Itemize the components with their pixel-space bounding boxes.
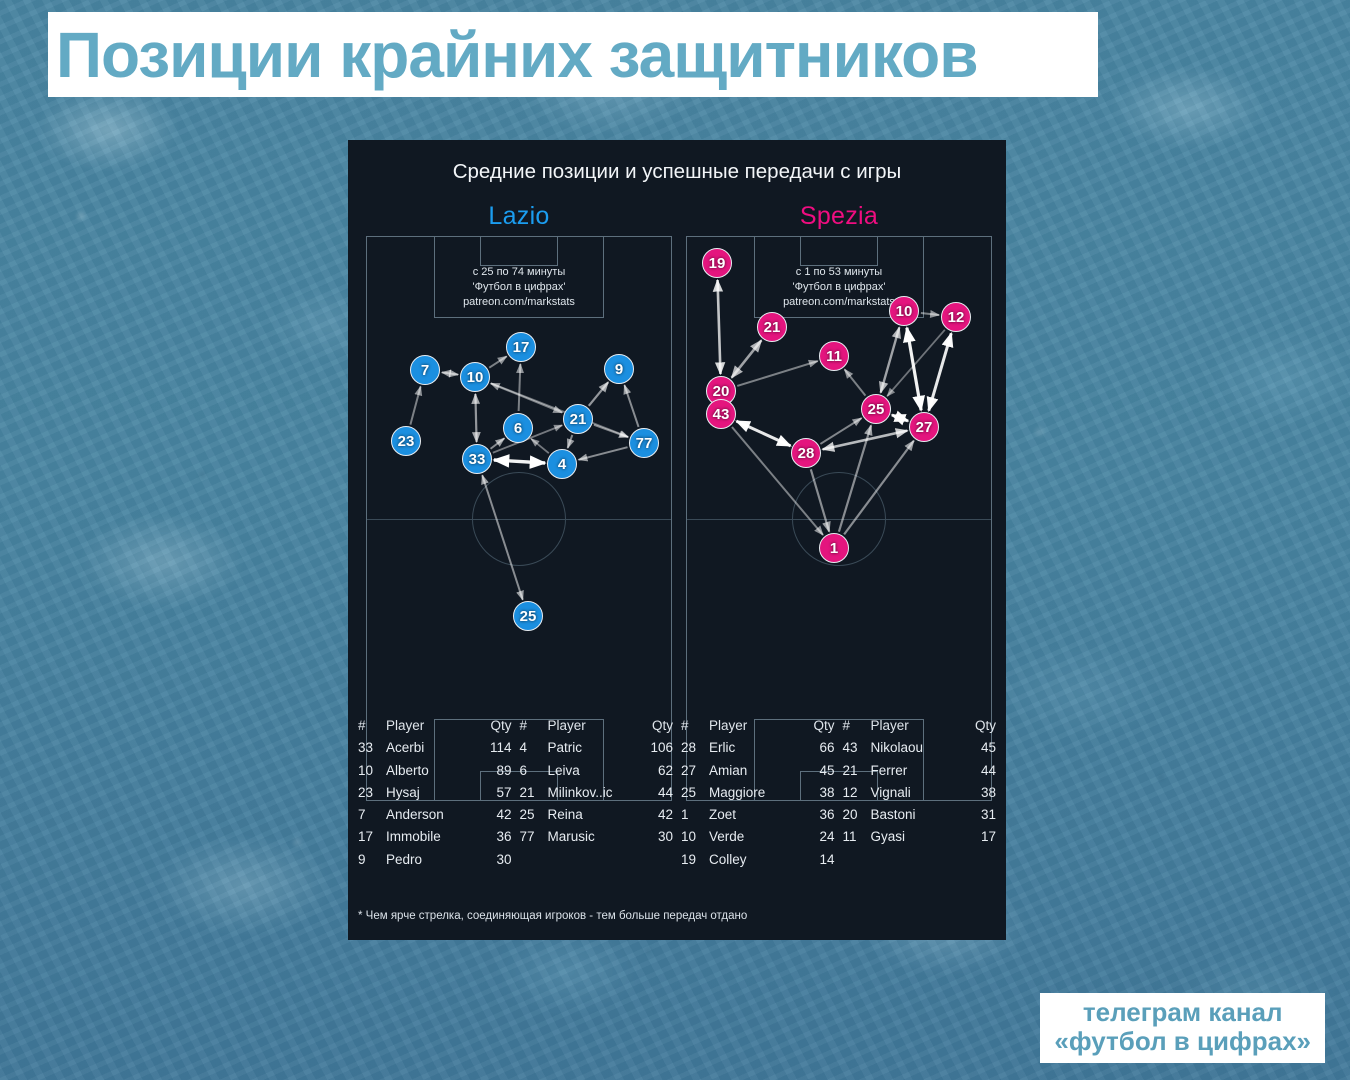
- player-number: 1: [681, 807, 707, 822]
- player-node-19[interactable]: 19: [702, 248, 732, 278]
- pass-qty: 42: [476, 807, 512, 822]
- player-node-33[interactable]: 33: [462, 444, 492, 474]
- panel-heading: Средние позиции и успешные передачи с иг…: [348, 140, 1006, 184]
- player-name: Reina: [546, 807, 638, 822]
- player-name: Zoet: [707, 807, 799, 822]
- player-name: Patric: [546, 740, 638, 755]
- pitch-spezia: Spezia с 1 по 53 минуты 'Футбол в цифрах…: [686, 236, 992, 801]
- table-row: 6Leiva62: [520, 763, 674, 785]
- pass-qty: 30: [476, 852, 512, 867]
- column-header: Qty: [960, 718, 996, 733]
- pass-network-edges-lazio: [366, 236, 672, 801]
- pass-qty: 114: [476, 740, 512, 755]
- table-row: 43Nikolaou45: [843, 740, 997, 762]
- page-title: Позиции крайних защитников: [48, 23, 978, 87]
- pass-edge: [820, 418, 861, 444]
- player-number: 33: [358, 740, 384, 755]
- pass-edge: [491, 438, 505, 448]
- player-name: Acerbi: [384, 740, 476, 755]
- table-row: 23Hysaj57: [358, 785, 512, 807]
- player-number: 6: [520, 763, 546, 778]
- player-node-25[interactable]: 25: [861, 394, 891, 424]
- player-node-17[interactable]: 17: [506, 332, 536, 362]
- column-header: Player: [707, 718, 799, 733]
- player-node-77[interactable]: 77: [629, 428, 659, 458]
- table-row: 27Amian45: [681, 763, 835, 785]
- pass-edge: [624, 385, 638, 427]
- player-name: Gyasi: [869, 829, 961, 844]
- player-name: Erlic: [707, 740, 799, 755]
- table-row: 12Vignali38: [843, 785, 997, 807]
- pass-edge: [921, 313, 939, 315]
- team-name-spezia: Spezia: [686, 202, 992, 231]
- pass-qty: 36: [476, 829, 512, 844]
- player-number: 9: [358, 852, 384, 867]
- pass-qty: 14: [799, 852, 835, 867]
- pass-qty: 38: [960, 785, 996, 800]
- player-number: 23: [358, 785, 384, 800]
- player-node-10[interactable]: 10: [889, 296, 919, 326]
- table-header-row: #PlayerQty: [520, 718, 674, 740]
- player-name: Bastoni: [869, 807, 961, 822]
- player-number: 4: [520, 740, 546, 755]
- pass-qty: 66: [799, 740, 835, 755]
- pass-qty: 36: [799, 807, 835, 822]
- player-number: 21: [843, 763, 869, 778]
- player-name: Immobile: [384, 829, 476, 844]
- player-node-23[interactable]: 23: [391, 426, 421, 456]
- table-row: 20Bastoni31: [843, 807, 997, 829]
- pass-qty: 89: [476, 763, 512, 778]
- stats-table: #PlayerQty33Acerbi11410Alberto8923Hysaj5…: [354, 718, 516, 888]
- player-name: Marusic: [546, 829, 638, 844]
- player-node-10[interactable]: 10: [460, 362, 490, 392]
- player-node-1[interactable]: 1: [819, 533, 849, 563]
- pass-edge: [881, 327, 900, 392]
- player-name: Anderson: [384, 807, 476, 822]
- telegram-badge[interactable]: телеграм канал «футбол в цифрах»: [1040, 993, 1325, 1063]
- player-node-27[interactable]: 27: [909, 412, 939, 442]
- player-name: Hysaj: [384, 785, 476, 800]
- team-name-lazio: Lazio: [366, 202, 672, 231]
- pass-qty: 44: [637, 785, 673, 800]
- table-row: 33Acerbi114: [358, 740, 512, 762]
- player-node-25[interactable]: 25: [513, 601, 543, 631]
- player-number: 19: [681, 852, 707, 867]
- pass-qty: 31: [960, 807, 996, 822]
- pass-edge: [892, 415, 908, 421]
- player-node-12[interactable]: 12: [941, 302, 971, 332]
- table-row: 4Patric106: [520, 740, 674, 762]
- player-number: 77: [520, 829, 546, 844]
- table-row: 77Marusic30: [520, 829, 674, 851]
- player-name: Nikolaou: [869, 740, 961, 755]
- player-node-21[interactable]: 21: [757, 312, 787, 342]
- pass-edge: [482, 475, 522, 600]
- pass-edge: [907, 328, 921, 410]
- player-name: Verde: [707, 829, 799, 844]
- pass-edge: [531, 439, 549, 453]
- table-row: 19Colley14: [681, 852, 835, 874]
- pass-edge: [410, 386, 420, 424]
- pass-qty: 38: [799, 785, 835, 800]
- pass-edge: [578, 447, 627, 460]
- column-header: Player: [384, 718, 476, 733]
- pass-qty: 30: [637, 829, 673, 844]
- pass-edge: [589, 382, 608, 406]
- player-name: Amian: [707, 763, 799, 778]
- player-number: 17: [358, 829, 384, 844]
- table-row: 28Erlic66: [681, 740, 835, 762]
- player-node-7[interactable]: 7: [410, 355, 440, 385]
- player-name: Alberto: [384, 763, 476, 778]
- pass-edge: [442, 372, 458, 374]
- pass-qty: 57: [476, 785, 512, 800]
- column-header: Qty: [476, 718, 512, 733]
- badge-line-2: «футбол в цифрах»: [1054, 1027, 1311, 1056]
- pass-edge: [568, 435, 573, 448]
- table-row: 10Verde24: [681, 829, 835, 851]
- column-header: Player: [546, 718, 638, 733]
- player-name: Maggiore: [707, 785, 799, 800]
- column-header: #: [358, 718, 384, 733]
- player-node-11[interactable]: 11: [819, 341, 849, 371]
- player-name: Milinkov..ic: [546, 785, 638, 800]
- table-row: 7Anderson42: [358, 807, 512, 829]
- column-header: #: [843, 718, 869, 733]
- player-name: Leiva: [546, 763, 638, 778]
- player-node-6[interactable]: 6: [503, 413, 533, 443]
- pass-qty: 17: [960, 829, 996, 844]
- table-row: 10Alberto89: [358, 763, 512, 785]
- pass-edge: [475, 394, 476, 442]
- player-number: 25: [681, 785, 707, 800]
- player-node-28[interactable]: 28: [791, 438, 821, 468]
- table-row: 25Reina42: [520, 807, 674, 829]
- player-node-9[interactable]: 9: [604, 354, 634, 384]
- pass-qty: 106: [637, 740, 673, 755]
- stats-table: #PlayerQty43Nikolaou4521Ferrer4412Vignal…: [839, 718, 1001, 888]
- table-row: 25Maggiore38: [681, 785, 835, 807]
- pitch-lazio: Lazio с 25 по 74 минуты 'Футбол в цифрах…: [366, 236, 672, 801]
- pass-edge: [844, 441, 914, 535]
- player-name: Pedro: [384, 852, 476, 867]
- column-header: #: [681, 718, 707, 733]
- table-row: 21Milinkov..ic44: [520, 785, 674, 807]
- table-row: 11Gyasi17: [843, 829, 997, 851]
- player-number: 20: [843, 807, 869, 822]
- title-banner: Позиции крайних защитников: [48, 12, 1098, 97]
- table-row: 1Zoet36: [681, 807, 835, 829]
- player-number: 10: [358, 763, 384, 778]
- player-node-4[interactable]: 4: [547, 449, 577, 479]
- player-number: 25: [520, 807, 546, 822]
- pass-qty: 42: [637, 807, 673, 822]
- player-number: 12: [843, 785, 869, 800]
- badge-line-1: телеграм канал: [1054, 998, 1311, 1027]
- column-header: #: [520, 718, 546, 733]
- pass-qty: 62: [637, 763, 673, 778]
- player-name: Ferrer: [869, 763, 961, 778]
- pass-edge: [845, 369, 866, 395]
- footnote: * Чем ярче стрелка, соединяющая игроков …: [358, 910, 747, 922]
- pass-edge: [718, 280, 721, 374]
- pass-edge: [489, 356, 507, 367]
- table-row: 9Pedro30: [358, 852, 512, 874]
- player-node-21[interactable]: 21: [563, 404, 593, 434]
- table-header-row: #PlayerQty: [843, 718, 997, 740]
- pass-edge: [519, 364, 521, 411]
- player-node-43[interactable]: 43: [706, 399, 736, 429]
- pass-qty: 44: [960, 763, 996, 778]
- stats-table: #PlayerQty4Patric1066Leiva6221Milinkov..…: [516, 718, 678, 888]
- table-header-row: #PlayerQty: [358, 718, 512, 740]
- infographic-panel: Средние позиции и успешные передачи с иг…: [348, 140, 1006, 940]
- player-number: 27: [681, 763, 707, 778]
- pass-edge: [732, 340, 762, 377]
- player-number: 21: [520, 785, 546, 800]
- column-header: Qty: [637, 718, 673, 733]
- pass-qty: 24: [799, 829, 835, 844]
- player-number: 43: [843, 740, 869, 755]
- pass-qty: 45: [799, 763, 835, 778]
- player-number: 10: [681, 829, 707, 844]
- pass-qty: 45: [960, 740, 996, 755]
- stats-table: #PlayerQty28Erlic6627Amian4525Maggiore38…: [677, 718, 839, 888]
- column-header: Qty: [799, 718, 835, 733]
- player-number: 11: [843, 829, 869, 844]
- pass-edge: [494, 460, 545, 463]
- player-name: Vignali: [869, 785, 961, 800]
- player-number: 7: [358, 807, 384, 822]
- player-number: 28: [681, 740, 707, 755]
- player-stats-tables: #PlayerQty33Acerbi11410Alberto8923Hysaj5…: [354, 718, 1000, 888]
- column-header: Player: [869, 718, 961, 733]
- table-row: 21Ferrer44: [843, 763, 997, 785]
- table-row: 17Immobile36: [358, 829, 512, 851]
- table-header-row: #PlayerQty: [681, 718, 835, 740]
- pass-edge: [737, 361, 818, 386]
- pass-edge: [594, 425, 628, 437]
- player-name: Colley: [707, 852, 799, 867]
